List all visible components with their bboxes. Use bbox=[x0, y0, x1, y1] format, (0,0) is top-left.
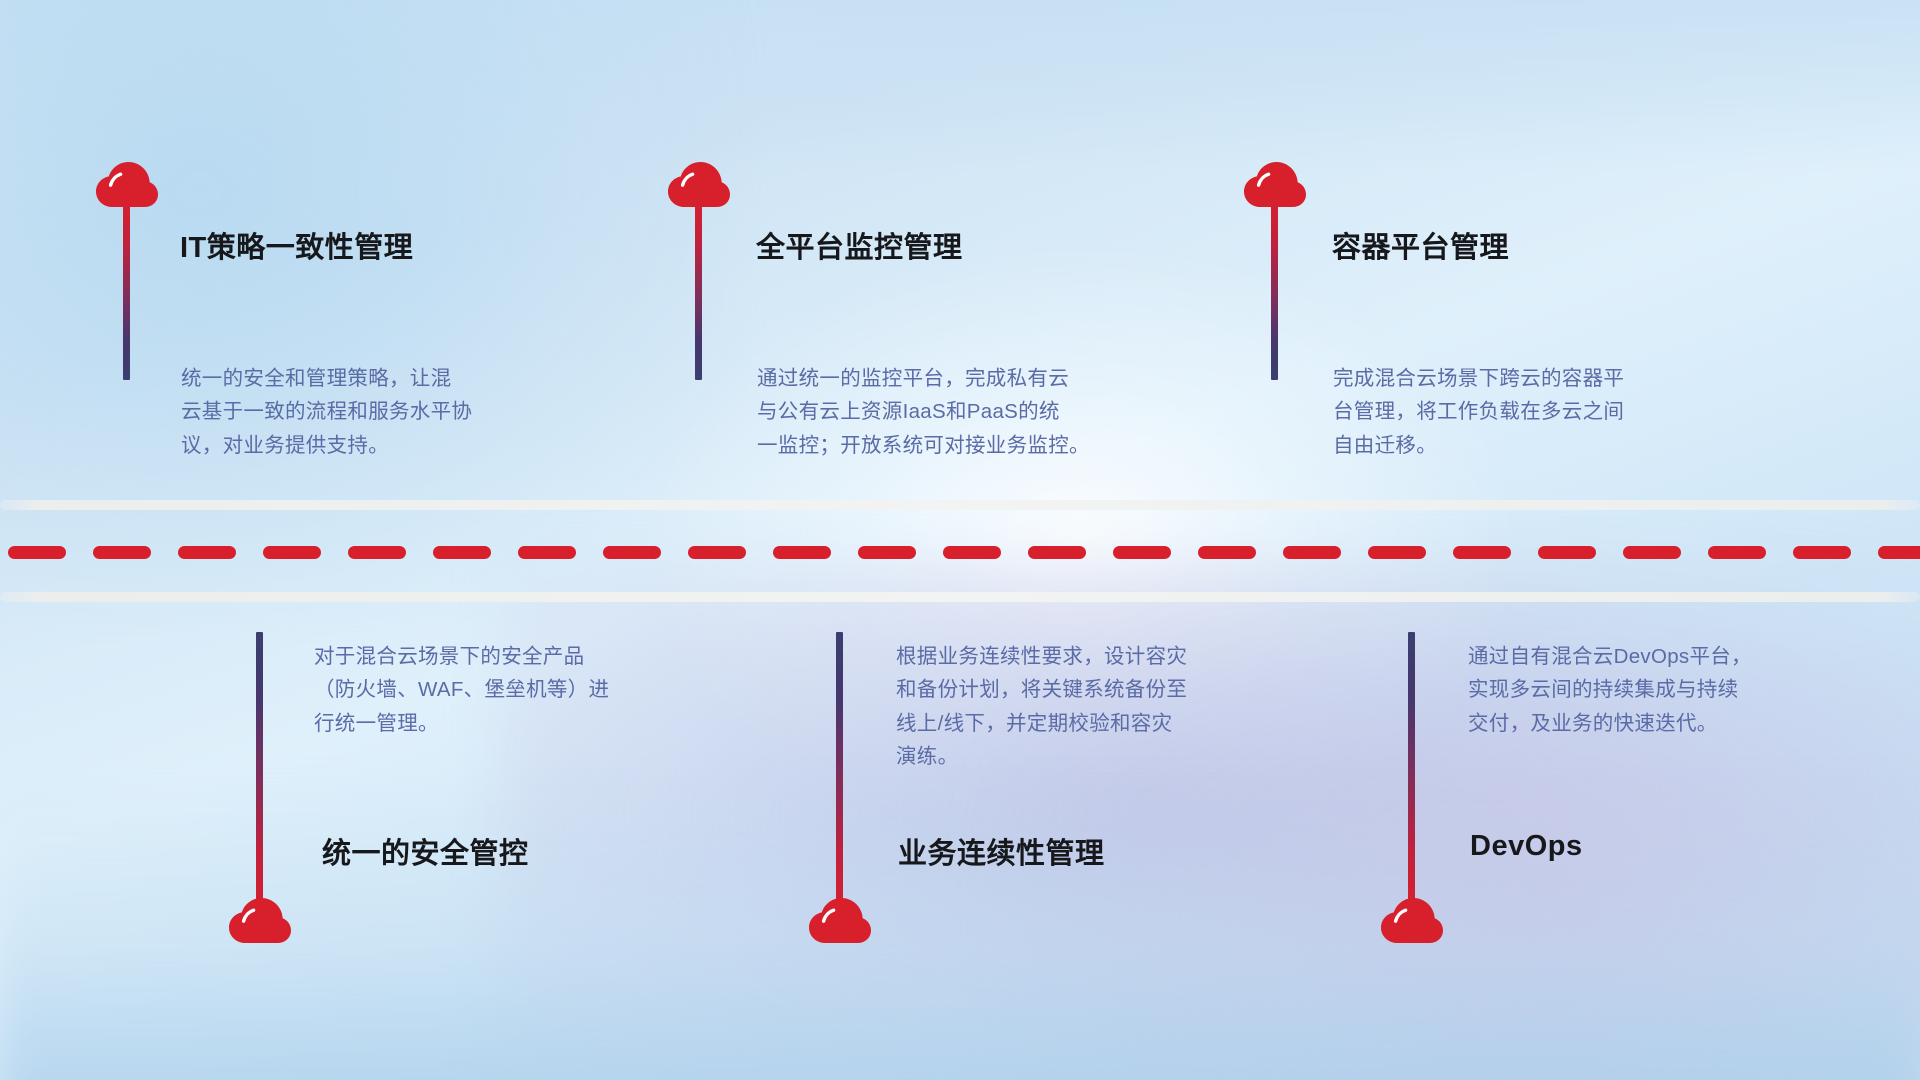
road-dash bbox=[263, 546, 321, 559]
road-dash bbox=[1878, 546, 1920, 559]
stem-connector bbox=[836, 632, 843, 912]
road-line-bottom bbox=[0, 592, 1920, 602]
road-dash bbox=[943, 546, 1001, 559]
column-title: IT策略一致性管理 bbox=[180, 224, 413, 266]
column-body: 完成混合云场景下跨云的容器平 台管理，将工作负载在多云之间 自由迁移。 bbox=[1333, 362, 1763, 462]
cloud-icon bbox=[1381, 898, 1443, 944]
road-dash bbox=[1708, 546, 1766, 559]
background-glow-left bbox=[0, 0, 730, 605]
road-dash bbox=[1113, 546, 1171, 559]
column-title: 业务连续性管理 bbox=[898, 830, 1105, 872]
column-body: 通过统一的监控平台，完成私有云 与公有云上资源IaaS和PaaS的统 一监控；开… bbox=[757, 362, 1207, 462]
road-dash bbox=[518, 546, 576, 559]
road-dash bbox=[348, 546, 406, 559]
road-dash bbox=[1623, 546, 1681, 559]
column-body: 统一的安全和管理策略，让混 云基于一致的流程和服务水平协 议，对业务提供支持。 bbox=[181, 362, 621, 462]
road-dash bbox=[603, 546, 661, 559]
road-dash bbox=[773, 546, 831, 559]
column-title: 统一的安全管控 bbox=[322, 830, 529, 872]
column-body: 根据业务连续性要求，设计容灾 和备份计划，将关键系统备份至 线上/线下，并定期校… bbox=[896, 640, 1326, 774]
column-title: 全平台监控管理 bbox=[756, 224, 963, 266]
column-title: DevOps bbox=[1470, 830, 1583, 863]
road-dash bbox=[1538, 546, 1596, 559]
road-dashed-center-line bbox=[0, 545, 1920, 559]
road-dash bbox=[433, 546, 491, 559]
stem-connector bbox=[123, 200, 130, 380]
road-dash bbox=[93, 546, 151, 559]
road-dash bbox=[858, 546, 916, 559]
column-body: 通过自有混合云DevOps平台， 实现多云间的持续集成与持续 交付，及业务的快速… bbox=[1468, 640, 1898, 740]
column-title: 容器平台管理 bbox=[1332, 224, 1509, 266]
road-dash bbox=[1453, 546, 1511, 559]
stem-connector bbox=[1271, 200, 1278, 380]
road-dash bbox=[1028, 546, 1086, 559]
road-dash bbox=[1198, 546, 1256, 559]
infographic-canvas: IT策略一致性管理 统一的安全和管理策略，让混 云基于一致的流程和服务水平协 议… bbox=[0, 0, 1920, 1080]
road-dash bbox=[1283, 546, 1341, 559]
stem-connector bbox=[1408, 632, 1415, 912]
column-body: 对于混合云场景下的安全产品 （防火墙、WAF、堡垒机等）进 行统一管理。 bbox=[314, 640, 744, 740]
road-line-top bbox=[0, 500, 1920, 510]
road-dash bbox=[8, 546, 66, 559]
road-dash bbox=[1368, 546, 1426, 559]
stem-connector bbox=[256, 632, 263, 912]
road-dash bbox=[178, 546, 236, 559]
cloud-icon bbox=[229, 898, 291, 944]
road-dash bbox=[688, 546, 746, 559]
cloud-icon bbox=[809, 898, 871, 944]
stem-connector bbox=[695, 200, 702, 380]
road-dash bbox=[1793, 546, 1851, 559]
